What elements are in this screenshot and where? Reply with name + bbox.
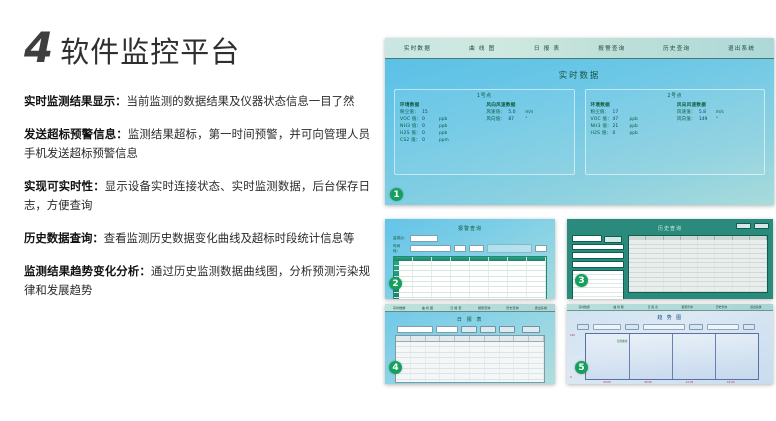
menu-item-exit-system[interactable]: 退出系统	[739, 305, 773, 309]
history-date-from-input[interactable]	[572, 244, 624, 251]
screenshot-gallery: 实时数据 曲 线 图 日 报 表 报警查询 历史查询 退出系统 实时数据 1号点…	[382, 0, 776, 421]
history-query-button[interactable]	[604, 236, 622, 243]
alarm-station-select[interactable]	[410, 235, 438, 242]
alarm-filter-row-2[interactable]: 时间段：	[393, 244, 547, 254]
slide-root: 4 软件监控平台 实时监测结果显示：当前监测的数据结果及仪器状态信息一目了然 发…	[0, 0, 776, 421]
bullet-item-3: 实现可实时性：显示设备实时连接状态、实时监测数据，后台保存日志，方便查询	[24, 177, 370, 216]
page-title: 4 软件监控平台	[24, 28, 240, 68]
chart-gridline	[715, 334, 716, 379]
station-2-winddir-value: 149	[699, 118, 716, 123]
alarm-results-table[interactable]	[393, 256, 547, 300]
station-1-winddir-value: 87	[508, 118, 525, 123]
station-2-wind-group: 风向风速数据 风速值： 5.8 m/s 风向值： 149 °	[677, 102, 759, 139]
trend-param-select[interactable]	[593, 324, 621, 330]
daily-report-grid[interactable]	[395, 335, 545, 383]
realtime-body: 实时数据 1号点 环境数据 粉尘值： 15	[385, 59, 774, 205]
station-2-h2s-value: 0	[613, 132, 630, 137]
screenshot-badge-3: 3	[575, 274, 588, 287]
screenshot-daily-report[interactable]: 实时数据 曲 线 图 日 报 表 报警查询 历史查询 退出系统 日 报 表	[385, 304, 555, 384]
screenshot-realtime-data[interactable]: 实时数据 曲 线 图 日 报 表 报警查询 历史查询 退出系统 实时数据 1号点…	[385, 38, 774, 205]
bullet-4-sep: ：	[92, 231, 103, 245]
alarm-query-heading: 报警查询	[385, 219, 555, 232]
station-1-wind-row: 风速值： 5.0 m/s	[486, 111, 568, 116]
history-toolbar[interactable]	[736, 223, 769, 229]
alarm-query-controls: 监测点： 时间段：	[385, 232, 555, 254]
history-interval-input[interactable]	[572, 261, 624, 268]
station-1-wind-row: 风向值： 87 °	[486, 118, 568, 123]
slide-title-text: 软件监控平台	[60, 37, 240, 67]
history-query-body	[567, 232, 773, 299]
history-filter-panel	[572, 235, 624, 299]
chart-y-label-max: 100	[570, 334, 575, 337]
station-1-dust-value: 15	[422, 111, 439, 116]
chart-gridline	[629, 334, 630, 379]
station-panels: 1号点 环境数据 粉尘值： 15 VOC 值：	[385, 81, 774, 175]
alarm-time-input[interactable]	[469, 245, 485, 252]
report-print-button[interactable]	[499, 326, 515, 333]
report-query-button[interactable]	[461, 326, 477, 333]
screenshot-badge-5: 5	[575, 361, 588, 374]
station-2-h2s-label: H2S 值：	[591, 132, 613, 137]
chart-y-label-min: 0	[570, 376, 572, 379]
chart-x-label: 06:00	[644, 381, 651, 384]
station-1-h2s-unit: ppb	[439, 132, 447, 136]
trend-station-button[interactable]	[577, 324, 589, 330]
bullet-1-sep: ：	[115, 94, 126, 108]
bullet-1-body: 当前监测的数据结果及仪器状态信息一目了然	[127, 94, 355, 108]
screenshot-badge-4: 4	[389, 361, 402, 374]
trend-refresh-button[interactable]	[625, 324, 639, 330]
station-2-windspeed-label: 风速值：	[677, 111, 699, 116]
station-1-wind-heading: 风向风速数据	[486, 102, 568, 108]
menu-item-history-query[interactable]: 历史查询	[498, 305, 526, 310]
menu-item-realtime[interactable]: 实时数据	[567, 305, 601, 309]
station-2-env-heading: 环境数据	[591, 102, 677, 108]
station-1-winddir-unit: °	[525, 118, 527, 122]
station-2-nh3-value: 21	[613, 125, 630, 130]
menu-item-alarm-query[interactable]: 报警查询	[670, 305, 704, 309]
bullet-1-head: 实时监测结果显示	[24, 94, 115, 108]
trend-chart-plot[interactable]: 监测曲线 100 0 00:00 06:00 12:00 18:00	[585, 333, 759, 380]
station-2-h2s-unit: ppb	[630, 132, 638, 136]
station-2-nh3-label: NH3 值：	[591, 125, 613, 130]
trend-legend-box[interactable]	[707, 324, 739, 330]
alarm-filter-row-1[interactable]: 监测点：	[393, 235, 547, 242]
bullet-3-sep: ：	[93, 179, 105, 193]
station-1-wind-group: 风向风速数据 风速值： 5.0 m/s 风向值： 87 °	[486, 102, 568, 146]
alarm-date-from-input[interactable]	[410, 245, 451, 252]
table-row[interactable]	[629, 292, 767, 293]
list-item[interactable]	[573, 297, 623, 299]
station-2-windspeed-value: 5.8	[699, 111, 716, 116]
station-2-env-row: NH3 值： 21 ppb	[591, 125, 677, 130]
station-2-nh3-unit: ppb	[630, 125, 638, 129]
station-1-nh3-label: NH3 值：	[400, 125, 422, 130]
alarm-query-button[interactable]	[535, 245, 547, 252]
daily-report-heading: 日 报 表	[385, 312, 555, 323]
station-1-cs2-value: 0	[422, 139, 439, 144]
screenshot-trend-chart[interactable]: 实时数据 曲 线 图 日 报 表 报警查询 历史查询 退出系统 趋 势 图 监测…	[567, 304, 773, 384]
history-station-select[interactable]	[572, 235, 602, 242]
menu-item-curve-chart[interactable]: 曲 线 图	[601, 305, 635, 309]
menu-item-realtime[interactable]: 实时数据	[385, 305, 413, 310]
alarm-filter-label-2: 时间段：	[393, 244, 407, 254]
bullet-item-1: 实时监测结果显示：当前监测的数据结果及仪器状态信息一目了然	[24, 92, 370, 112]
bullet-5-sep: ：	[139, 264, 151, 278]
screenshot-alarm-query[interactable]: 报警查询 监测点： 时间段：	[385, 219, 555, 299]
bullet-5-head: 监测结果趋势变化分析	[24, 264, 139, 278]
bullet-item-5: 监测结果趋势变化分析：通过历史监测数据曲线图，分析预测污染规律和发展趋势	[24, 262, 370, 301]
realtime-heading: 实时数据	[385, 59, 774, 81]
menu-item-alarm-query[interactable]: 报警查询	[470, 305, 498, 310]
bullet-2-sep: ：	[116, 127, 128, 141]
table-row[interactable]	[394, 298, 546, 299]
station-1-env-heading: 环境数据	[400, 102, 486, 108]
alarm-type-group[interactable]	[487, 244, 532, 253]
station-1-env-row: VOC 值： 0 ppb	[400, 118, 486, 123]
bullet-3-head: 实现可实时性	[24, 179, 93, 193]
history-date-to-input[interactable]	[572, 252, 624, 259]
report-export-button[interactable]	[480, 326, 496, 333]
station-2-dust-label: 粉尘值：	[591, 111, 613, 116]
station-1-cs2-label: CS2 值：	[400, 139, 422, 144]
station-1-windspeed-value: 5.0	[508, 111, 525, 116]
alarm-date-to-input[interactable]	[454, 245, 466, 252]
menu-item-daily-report[interactable]: 日 报 表	[515, 44, 580, 52]
station-1-nh3-value: 0	[422, 125, 439, 130]
app-menubar[interactable]: 实时数据 曲 线 图 日 报 表 报警查询 历史查询 退出系统	[385, 38, 774, 59]
report-close-button[interactable]	[522, 326, 540, 333]
station-1-windspeed-label: 风速值：	[486, 111, 508, 116]
left-content-column: 4 软件监控平台 实时监测结果显示：当前监测的数据结果及仪器状态信息一目了然 发…	[0, 0, 382, 421]
station-1-h2s-value: 0	[422, 132, 439, 137]
menu-item-curve-chart[interactable]: 曲 线 图	[450, 44, 515, 52]
trend-menubar[interactable]: 实时数据 曲 线 图 日 报 表 报警查询 历史查询 退出系统	[567, 304, 773, 311]
report-station-select[interactable]	[436, 326, 458, 333]
station-1-cs2-unit: ppm	[439, 139, 449, 143]
station-2-winddir-unit: °	[716, 118, 718, 122]
station-2-voc-unit: ppb	[630, 118, 638, 122]
menu-item-exit-system[interactable]: 退出系统	[527, 305, 555, 310]
menu-item-daily-report[interactable]: 日 报 表	[442, 305, 470, 310]
station-2-windspeed-unit: m/s	[716, 111, 724, 115]
menu-item-daily-report[interactable]: 日 报 表	[636, 305, 670, 309]
history-results-panel	[628, 235, 768, 299]
daily-report-controls	[385, 323, 555, 333]
station-2-dust-value: 17	[613, 111, 630, 116]
menu-item-realtime[interactable]: 实时数据	[385, 44, 450, 52]
menu-item-history-query[interactable]: 历史查询	[644, 44, 709, 52]
history-results-grid[interactable]	[628, 235, 768, 293]
daily-report-menubar[interactable]: 实时数据 曲 线 图 日 报 表 报警查询 历史查询 退出系统	[385, 304, 555, 312]
chart-x-label: 12:00	[686, 381, 693, 384]
trend-chart-annotation: 监测曲线	[617, 339, 627, 343]
bullet-item-4: 历史数据查询：查看监测历史数据变化曲线及超标时段统计信息等	[24, 229, 370, 249]
station-2-voc-value: 47	[613, 118, 630, 123]
station-2-env-row: 粉尘值： 17	[591, 111, 677, 116]
history-print-button[interactable]	[754, 223, 769, 229]
screenshot-badge-1: 1	[390, 188, 403, 201]
report-date-input[interactable]	[397, 326, 433, 333]
menu-item-curve-chart[interactable]: 曲 线 图	[413, 305, 441, 310]
station-1-env-row: H2S 值： 0 ppb	[400, 132, 486, 137]
station-2-wind-row: 风向值： 149 °	[677, 118, 759, 123]
trend-close-button[interactable]	[743, 324, 755, 330]
menu-item-history-query[interactable]: 历史查询	[704, 305, 738, 309]
screenshot-badge-2: 2	[389, 277, 402, 290]
station-2-wind-row: 风速值： 5.8 m/s	[677, 111, 759, 116]
station-1-env-row: 粉尘值： 15	[400, 111, 486, 116]
menu-item-alarm-query[interactable]: 报警查询	[579, 44, 644, 52]
station-2-env-group: 环境数据 粉尘值： 17 VOC 值： 47 ppb	[591, 102, 677, 139]
table-row[interactable]	[396, 380, 544, 383]
station-2-wind-heading: 风向风速数据	[677, 102, 759, 108]
chart-x-label: 18:00	[727, 381, 734, 384]
station-1-voc-value: 0	[422, 118, 439, 123]
station-2-name: 2号点	[586, 90, 765, 99]
station-1-h2s-label: H2S 值：	[400, 132, 422, 137]
station-1-windspeed-unit: m/s	[525, 111, 533, 115]
station-panel-2: 2号点 环境数据 粉尘值： 17 VOC 值：	[585, 89, 766, 175]
alarm-filter-label-1: 监测点：	[393, 236, 407, 241]
trend-query-button[interactable]	[689, 324, 703, 330]
station-1-env-group: 环境数据 粉尘值： 15 VOC 值： 0 ppb	[400, 102, 486, 146]
chart-gridline	[672, 334, 673, 379]
station-1-env-row: CS2 值： 0 ppm	[400, 139, 486, 144]
bullet-list: 实时监测结果显示：当前监测的数据结果及仪器状态信息一目了然 发送超标预警信息：监…	[24, 92, 370, 314]
bullet-2-head: 发送超标预警信息	[24, 127, 116, 141]
station-1-voc-label: VOC 值：	[400, 118, 422, 123]
alarm-table-body	[394, 261, 546, 300]
station-1-env-row: NH3 值： 0 ppb	[400, 125, 486, 130]
station-1-nh3-unit: ppb	[439, 125, 447, 129]
trend-chart-controls	[567, 321, 773, 330]
station-2-winddir-label: 风向值：	[677, 118, 699, 123]
screenshot-history-query[interactable]: 历史查询	[567, 219, 773, 299]
slide-number: 4	[24, 28, 52, 68]
station-2-env-row: H2S 值： 0 ppb	[591, 132, 677, 137]
station-1-voc-unit: ppb	[439, 118, 447, 122]
menu-item-exit-system[interactable]: 退出系统	[709, 44, 774, 52]
bullet-item-2: 发送超标预警信息：监测结果超标，第一时间预警，并可向管理人员手机发送超标预警信息	[24, 125, 370, 164]
station-1-name: 1号点	[395, 90, 574, 99]
station-2-voc-label: VOC 值：	[591, 118, 613, 123]
bullet-4-body: 查看监测历史数据变化曲线及超标时段统计信息等	[104, 231, 355, 245]
station-1-winddir-label: 风向值：	[486, 118, 508, 123]
station-2-env-row: VOC 值： 47 ppb	[591, 118, 677, 123]
history-export-button[interactable]	[736, 223, 751, 229]
chart-x-label: 00:00	[603, 381, 610, 384]
trend-date-input[interactable]	[643, 324, 685, 330]
station-1-dust-label: 粉尘值：	[400, 111, 422, 116]
trend-chart-heading: 趋 势 图	[567, 311, 773, 321]
station-panel-1: 1号点 环境数据 粉尘值： 15 VOC 值：	[394, 89, 575, 175]
bullet-4-head: 历史数据查询	[24, 231, 92, 245]
